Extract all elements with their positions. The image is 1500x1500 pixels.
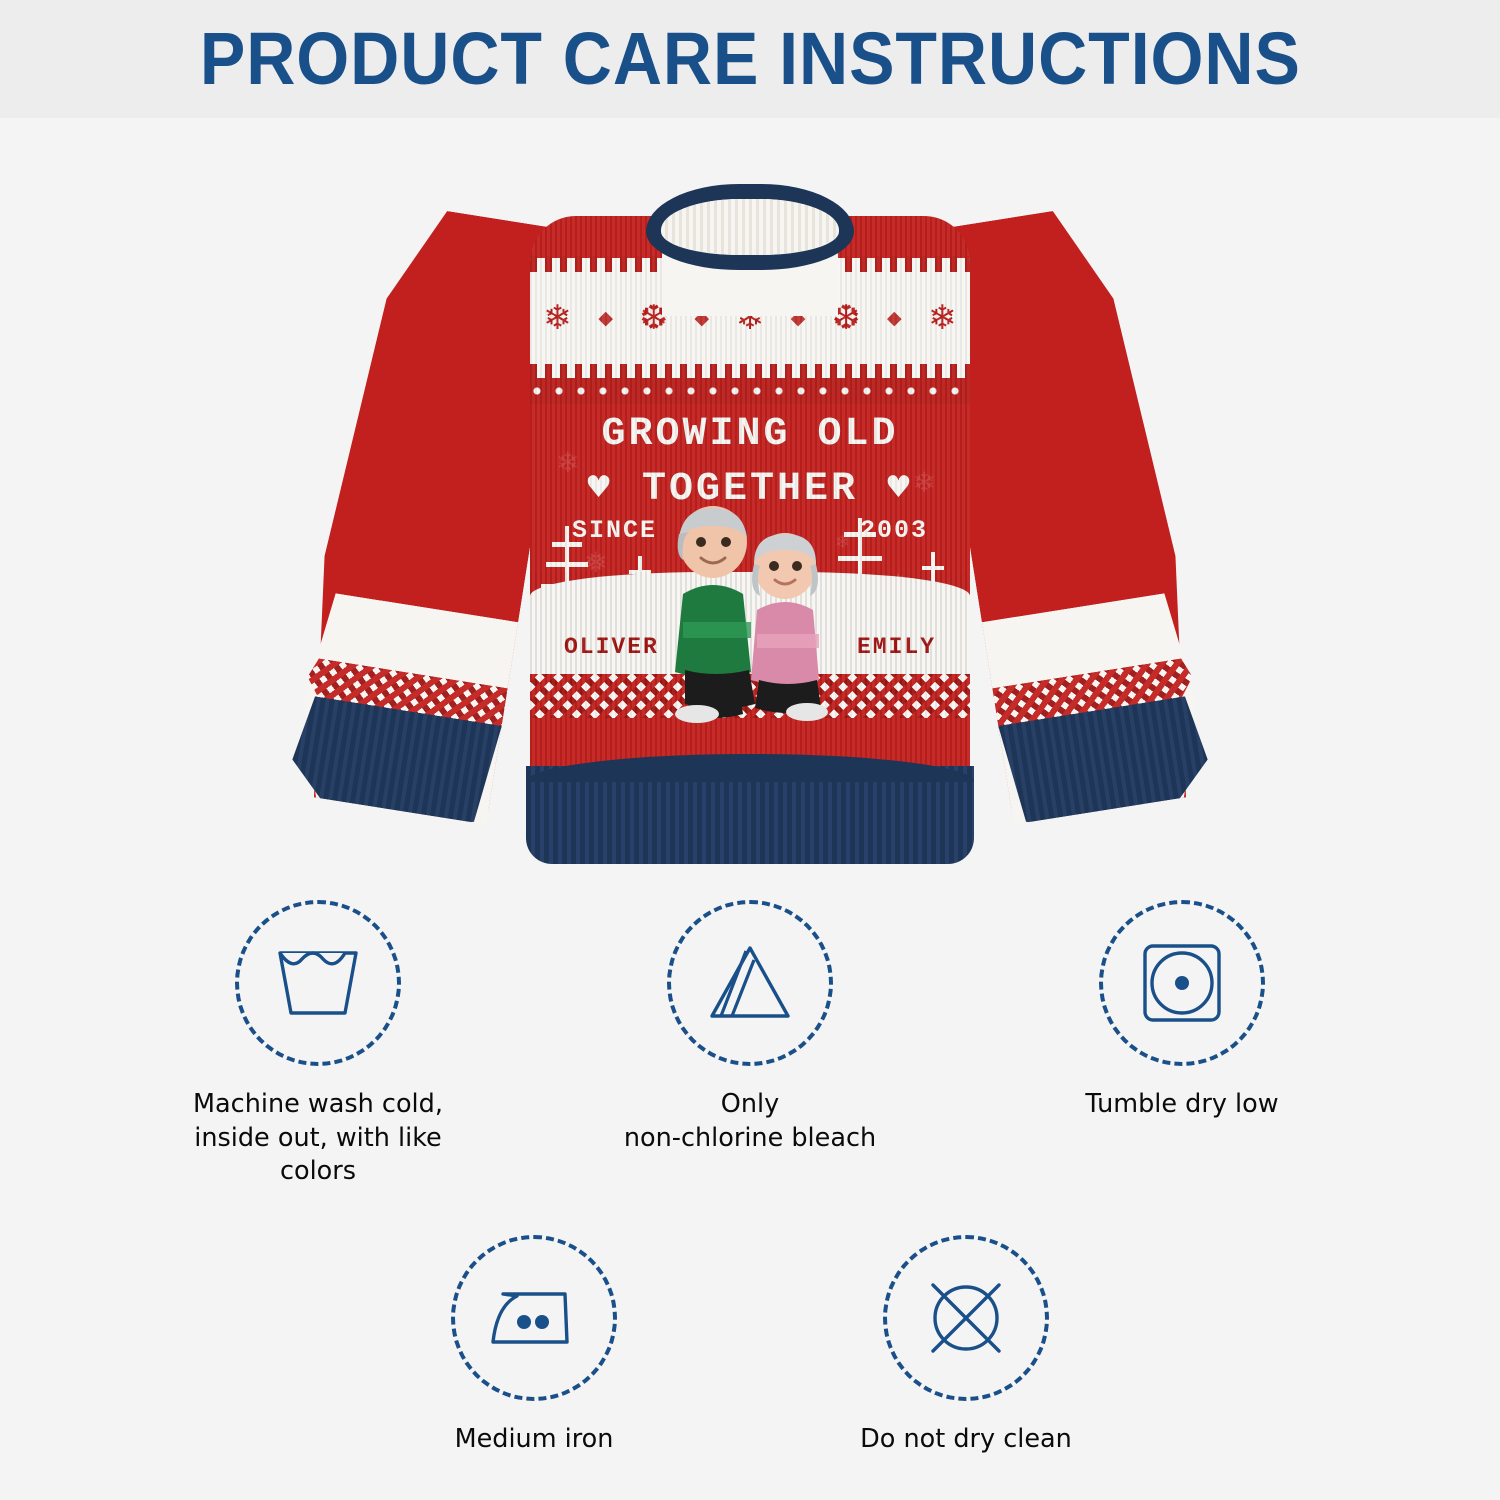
care-label: Machine wash cold, inside out, with like… <box>158 1088 478 1189</box>
collar-ribbing <box>661 199 839 255</box>
diamond-icon: ◆ <box>598 309 613 328</box>
care-label: Do not dry clean <box>860 1423 1072 1457</box>
care-label: Tumble dry low <box>1085 1088 1278 1122</box>
care-icon-circle <box>235 900 401 1066</box>
care-icon-circle <box>1099 900 1265 1066</box>
figure-oliver <box>675 506 755 723</box>
print-line-1: GROWING OLD <box>530 412 970 457</box>
wash-tub-icon <box>275 945 361 1021</box>
care-label: Only non-chlorine bleach <box>624 1088 876 1155</box>
care-item-tumble-dry[interactable]: Tumble dry low <box>1022 900 1342 1189</box>
dotted-red-band <box>530 378 970 404</box>
page-header: PRODUCT CARE INSTRUCTIONS <box>0 0 1500 118</box>
care-item-bleach[interactable]: Only non-chlorine bleach <box>590 900 910 1189</box>
care-icon-circle <box>883 1235 1049 1401</box>
care-icon-circle <box>667 900 833 1066</box>
sweater-product-photo: ❄ ◆ ❆ ◆ ❄ ◆ ❆ ◆ ❄ ❄ ❅ ❄ <box>375 180 1125 860</box>
care-icons-section: Machine wash cold, inside out, with like… <box>0 878 1500 1500</box>
care-row-bottom: Medium iron Do not dry clean <box>0 1189 1500 1457</box>
couple-illustration <box>635 494 865 724</box>
snowflake-icon: ❄ <box>928 301 957 335</box>
tumble-dry-icon <box>1140 941 1224 1025</box>
care-item-machine-wash[interactable]: Machine wash cold, inside out, with like… <box>158 900 478 1189</box>
iron-icon <box>487 1284 581 1352</box>
care-item-no-dry-clean[interactable]: Do not dry clean <box>806 1235 1126 1457</box>
sweater-navy-hem <box>526 766 974 864</box>
diamond-icon: ◆ <box>887 309 902 328</box>
page-title: PRODUCT CARE INSTRUCTIONS <box>200 22 1301 96</box>
snowflake-icon: ❄ <box>543 301 572 335</box>
care-item-iron[interactable]: Medium iron <box>374 1235 694 1457</box>
sweater-collar <box>646 184 854 270</box>
figure-emily <box>751 533 828 721</box>
no-dry-clean-icon <box>923 1275 1009 1361</box>
bleach-triangle-icon <box>706 943 794 1023</box>
care-label: Medium iron <box>455 1423 614 1457</box>
care-row-top: Machine wash cold, inside out, with like… <box>0 878 1500 1189</box>
product-image-stage: ❄ ◆ ❆ ◆ ❄ ◆ ❆ ◆ ❄ ❄ ❅ ❄ <box>0 118 1500 878</box>
name-right: EMILY <box>857 634 936 660</box>
care-icon-circle <box>451 1235 617 1401</box>
sweater-body: ❄ ◆ ❆ ◆ ❄ ◆ ❆ ◆ ❄ ❄ ❅ ❄ <box>530 180 970 852</box>
